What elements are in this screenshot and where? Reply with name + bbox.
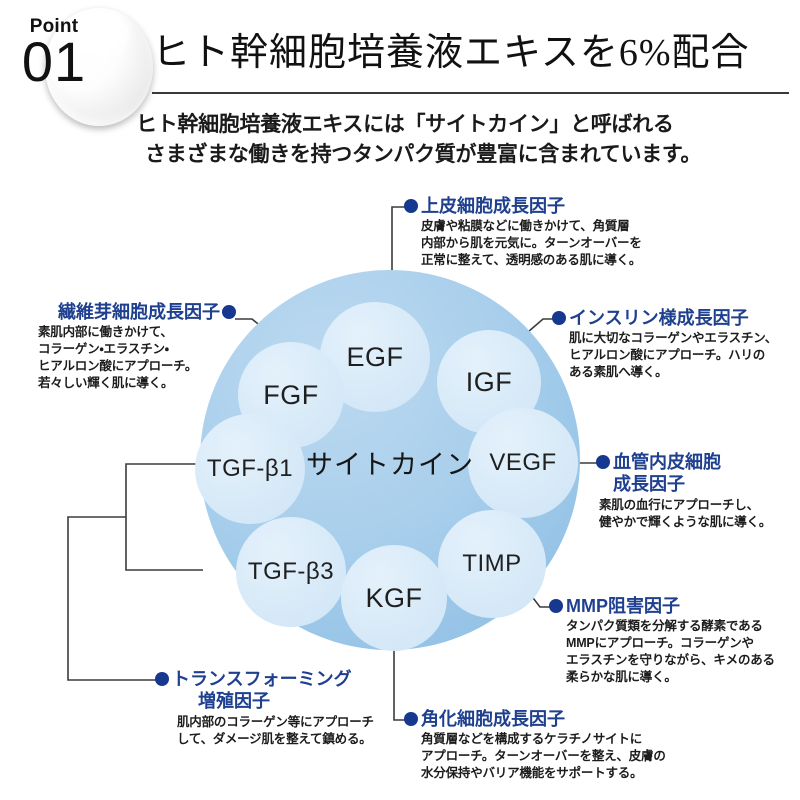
bullet-dot-icon bbox=[404, 712, 418, 726]
callout-timp-line-1: タンパク質類を分解する酵素である bbox=[566, 618, 775, 635]
callout-tgf: トランスフォーミング 増殖因子 肌内部のコラーゲン等にアプローチ して、ダメージ… bbox=[155, 669, 374, 749]
lede-line-1: ヒト幹細胞培養液エキスには「サイトカイン」と呼ばれる bbox=[136, 110, 796, 140]
callout-egf-body: 皮膚や粘膜などに働きかけて、角質層 内部から肌を元気に。ターンオーバーを 正常に… bbox=[421, 218, 642, 270]
lede-line-2: さまざまな働きを持つタンパク質が豊富に含まれています。 bbox=[145, 140, 796, 170]
page-title: ヒト幹細胞培養液エキスを6%配合 bbox=[152, 21, 792, 76]
bubble-kgf: KGF bbox=[341, 545, 447, 651]
callout-timp-title: MMP阻害因子 bbox=[549, 596, 775, 618]
callout-kgf-line-1: 角質層などを構成するケラチノサイトに bbox=[421, 731, 666, 748]
header: Point 01 ヒト幹細胞培養液エキスを6%配合 ヒト幹細胞培養液エキスには「… bbox=[0, 0, 800, 180]
center-label: サイトカイン bbox=[285, 443, 495, 482]
bubble-label-tgfb3: TGF-β3 bbox=[248, 558, 334, 586]
callout-vegf-line-2: 健やかで輝くような肌に導く。 bbox=[599, 514, 771, 531]
callout-tgf-line-1: 肌内部のコラーゲン等にアプローチ bbox=[177, 714, 374, 731]
callout-timp: MMP阻害因子 タンパク質類を分解する酵素である MMPにアプローチ。コラーゲン… bbox=[549, 596, 775, 687]
callout-vegf: 血管内皮細胞 成長因子 素肌の血行にアプローチし、 健やかで輝くような肌に導く。 bbox=[596, 452, 771, 532]
callout-fgf-title: 繊維芽細胞成長因子 bbox=[30, 302, 236, 324]
cytokine-diagram: EGF FGF IGF TGF-β1 VEGF TGF-β3 TIMP KGF … bbox=[0, 180, 800, 800]
callout-egf-line-2: 内部から肌を元気に。ターンオーバーを bbox=[421, 235, 642, 252]
bubble-tgfb3: TGF-β3 bbox=[236, 517, 346, 627]
bullet-dot-icon bbox=[552, 311, 566, 325]
callout-kgf-body: 角質層などを構成するケラチノサイトに アプローチ。ターンオーバーを整え、皮膚の … bbox=[421, 731, 666, 783]
bubble-label-tgfb1: TGF-β1 bbox=[207, 455, 293, 483]
callout-kgf-line-3: 水分保持やバリア機能をサポートする。 bbox=[421, 765, 666, 782]
callout-egf: 上皮細胞成長因子 皮膚や粘膜などに働きかけて、角質層 内部から肌を元気に。ターン… bbox=[404, 196, 642, 269]
callout-egf-line-1: 皮膚や粘膜などに働きかけて、角質層 bbox=[421, 218, 642, 235]
point-badge-number: 01 bbox=[0, 34, 108, 90]
bullet-dot-icon bbox=[404, 199, 418, 213]
bullet-dot-icon bbox=[155, 672, 169, 686]
callout-igf-title: インスリン様成長因子 bbox=[552, 308, 777, 330]
bullet-dot-icon bbox=[596, 455, 610, 469]
callout-egf-title: 上皮細胞成長因子 bbox=[404, 196, 642, 218]
callout-vegf-line-1: 素肌の血行にアプローチし、 bbox=[599, 497, 771, 514]
callout-timp-line-3: エラスチンを守りながら、キメのある bbox=[566, 652, 775, 669]
bubble-timp: TIMP bbox=[438, 510, 546, 618]
callout-kgf-line-2: アプローチ。ターンオーバーを整え、皮膚の bbox=[421, 748, 666, 765]
connector-tgf-bracket bbox=[68, 464, 203, 680]
callout-vegf-body: 素肌の血行にアプローチし、 健やかで輝くような肌に導く。 bbox=[599, 497, 771, 532]
callout-egf-line-3: 正常に整えて、透明感のある肌に導く。 bbox=[421, 252, 642, 269]
callout-tgf-title: トランスフォーミング bbox=[155, 669, 374, 691]
callout-fgf-title-text: 繊維芽細胞成長因子 bbox=[58, 302, 220, 322]
callout-fgf-line-3: ヒアルロン酸にアプローチ。 bbox=[38, 358, 236, 375]
callout-tgf-title2: 増殖因子 bbox=[198, 691, 374, 713]
bubble-label-timp: TIMP bbox=[462, 550, 521, 578]
bubble-label-kgf: KGF bbox=[365, 583, 422, 614]
callout-fgf-body: 素肌内部に働きかけて、 コラーゲン・エラスチン・ ヒアルロン酸にアプローチ。 若… bbox=[38, 324, 236, 393]
bullet-dot-icon bbox=[549, 599, 563, 613]
callout-fgf: 繊維芽細胞成長因子 素肌内部に働きかけて、 コラーゲン・エラスチン・ ヒアルロン… bbox=[30, 302, 236, 393]
callout-tgf-body: 肌内部のコラーゲン等にアプローチ して、ダメージ肌を整えて鎮める。 bbox=[177, 714, 374, 749]
bubble-label-fgf: FGF bbox=[263, 380, 319, 411]
bubble-label-igf: IGF bbox=[466, 367, 513, 398]
callout-igf-line-2: ヒアルロン酸にアプローチ。ハリの bbox=[569, 347, 777, 364]
title-divider bbox=[152, 92, 789, 94]
callout-timp-line-4: 柔らかな肌に導く。 bbox=[566, 669, 775, 686]
callout-vegf-title2: 成長因子 bbox=[613, 474, 771, 496]
callout-vegf-title-text: 血管内皮細胞 bbox=[613, 452, 721, 472]
callout-igf-title-text: インスリン様成長因子 bbox=[569, 308, 749, 328]
bullet-dot-icon bbox=[222, 305, 236, 319]
callout-vegf-title: 血管内皮細胞 bbox=[596, 452, 771, 474]
callout-igf-line-3: ある素肌へ導く。 bbox=[569, 364, 777, 381]
bubble-label-egf: EGF bbox=[346, 342, 403, 373]
callout-igf-line-1: 肌に大切なコラーゲンやエラスチン、 bbox=[569, 330, 777, 347]
bubble-label-vegf: VEGF bbox=[489, 449, 556, 477]
callout-igf: インスリン様成長因子 肌に大切なコラーゲンやエラスチン、 ヒアルロン酸にアプロー… bbox=[552, 308, 777, 381]
callout-kgf-title: 角化細胞成長因子 bbox=[404, 709, 666, 731]
callout-timp-body: タンパク質類を分解する酵素である MMPにアプローチ。コラーゲンや エラスチンを… bbox=[566, 618, 775, 687]
callout-timp-title-text: MMP阻害因子 bbox=[566, 596, 680, 616]
callout-tgf-line-2: して、ダメージ肌を整えて鎮める。 bbox=[177, 731, 374, 748]
infographic-page: Point 01 ヒト幹細胞培養液エキスを6%配合 ヒト幹細胞培養液エキスには「… bbox=[0, 0, 800, 800]
callout-igf-body: 肌に大切なコラーゲンやエラスチン、 ヒアルロン酸にアプローチ。ハリの ある素肌へ… bbox=[569, 330, 777, 382]
callout-egf-title-text: 上皮細胞成長因子 bbox=[421, 196, 565, 216]
callout-fgf-line-4: 若々しい輝く肌に導く。 bbox=[38, 375, 236, 392]
callout-timp-line-2: MMPにアプローチ。コラーゲンや bbox=[566, 635, 775, 652]
callout-fgf-line-1: 素肌内部に働きかけて、 bbox=[38, 324, 236, 341]
lede-paragraph: ヒト幹細胞培養液エキスには「サイトカイン」と呼ばれる さまざまな働きを持つタンパ… bbox=[136, 110, 796, 170]
callout-kgf-title-text: 角化細胞成長因子 bbox=[421, 709, 565, 729]
callout-fgf-line-2: コラーゲン・エラスチン・ bbox=[38, 341, 236, 358]
callout-kgf: 角化細胞成長因子 角質層などを構成するケラチノサイトに アプローチ。ターンオーバ… bbox=[404, 709, 666, 782]
callout-tgf-title-text: トランスフォーミング bbox=[172, 669, 352, 689]
